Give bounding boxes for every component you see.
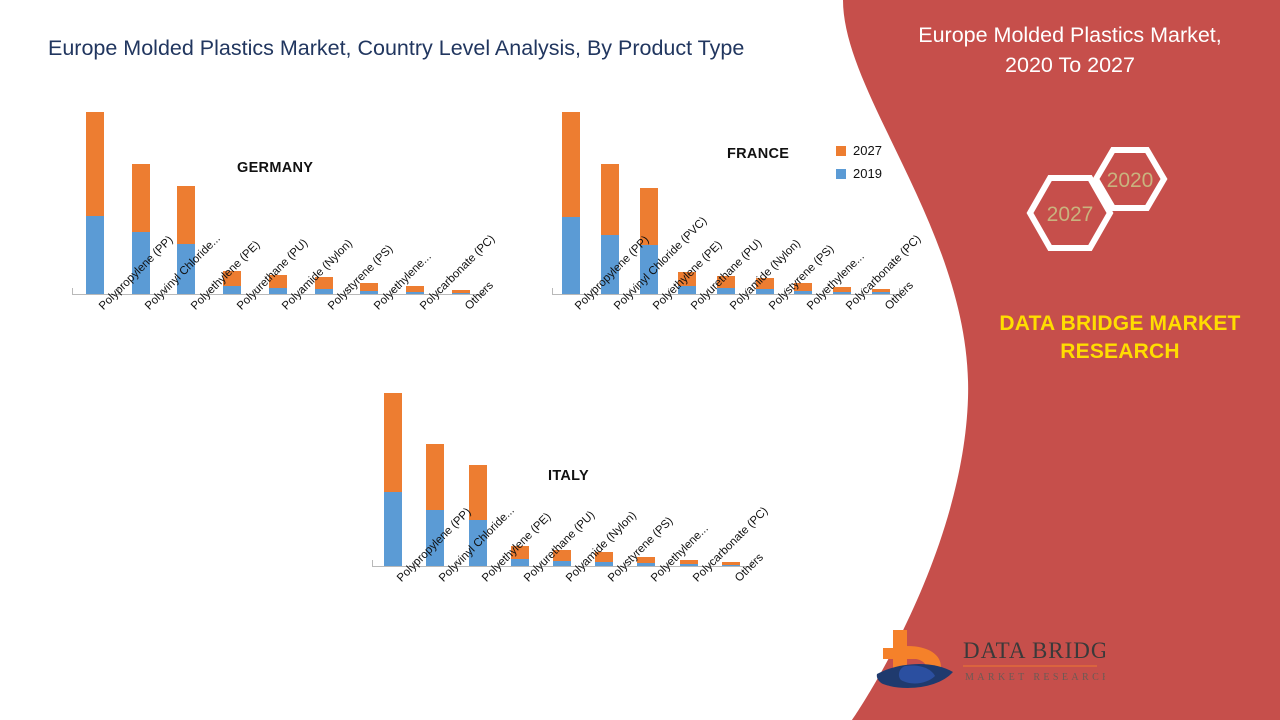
bar-segment-2027[interactable] [426,444,444,510]
hexagon-2027-label: 2027 [1047,203,1094,226]
bar-segment-2027[interactable] [601,164,619,235]
bar-segment-2027[interactable] [177,186,195,244]
hexagon-2020-shape: 2020 [1096,150,1164,208]
chart-germany: Polypropylene (PP)Polyvinyl Chloride...P… [72,108,484,308]
x-axis-line [372,566,752,567]
stacked-bar[interactable] [384,393,402,566]
bar-slot[interactable] [552,108,591,294]
bar-segment-2027[interactable] [562,112,580,217]
chart-title-italy: ITALY [548,468,589,484]
bar-segment-2027[interactable] [132,164,150,232]
brand-name-text: DATA BRIDGE MARKET RESEARCH [975,310,1265,366]
logo-tagline: MARKET RESEARCH [965,672,1105,683]
x-axis-tick [72,288,73,294]
chart-france: Polypropylene (PP)Polyvinyl Chloride (PV… [552,108,900,308]
right-panel-title: Europe Molded Plastics Market, 2020 To 2… [885,20,1255,80]
x-axis-line [552,294,900,295]
data-bridge-logo: DATA BRIDGE MARKET RESEARCH [875,622,1105,702]
slide-canvas: Europe Molded Plastics Market, 2020 To 2… [0,0,1280,720]
hexagon-2020-label: 2020 [1107,169,1154,192]
x-axis-line [72,294,484,295]
hexagon-2027-shape: 2027 [1030,178,1110,248]
bar-segment-2019[interactable] [86,216,104,294]
right-panel-title-line2: 2020 To 2027 [885,50,1255,80]
bar-slot[interactable] [372,390,414,566]
chart-title-france: FRANCE [727,146,789,162]
stacked-bar[interactable] [360,283,378,294]
hexagon-badges: 2027 2020 [985,145,1185,280]
bar-segment-2019[interactable] [384,492,402,566]
bar-segment-2027[interactable] [384,393,402,492]
bar-segment-2027[interactable] [86,112,104,216]
stacked-bar[interactable] [86,112,104,294]
stacked-bar[interactable] [406,286,424,294]
right-panel-title-line1: Europe Molded Plastics Market, [885,20,1255,50]
bar-segment-2019[interactable] [223,286,241,294]
page-title: Europe Molded Plastics Market, Country L… [48,36,848,61]
bar-slot[interactable] [72,108,118,294]
logo-mark-icon [877,630,953,688]
x-axis-tick [372,560,373,566]
brand-line-2: RESEARCH [975,338,1265,366]
bar-segment-2027[interactable] [360,283,378,290]
chart-italy: Polypropylene (PP)Polyvinyl Chloride...P… [372,390,752,580]
chart-title-germany: GERMANY [237,160,313,176]
bar-segment-2019[interactable] [562,217,580,294]
x-axis-tick [552,288,553,294]
logo-wordmark: DATA BRIDGE [963,638,1105,663]
brand-line-1: DATA BRIDGE MARKET [975,310,1265,338]
stacked-bar[interactable] [562,112,580,294]
